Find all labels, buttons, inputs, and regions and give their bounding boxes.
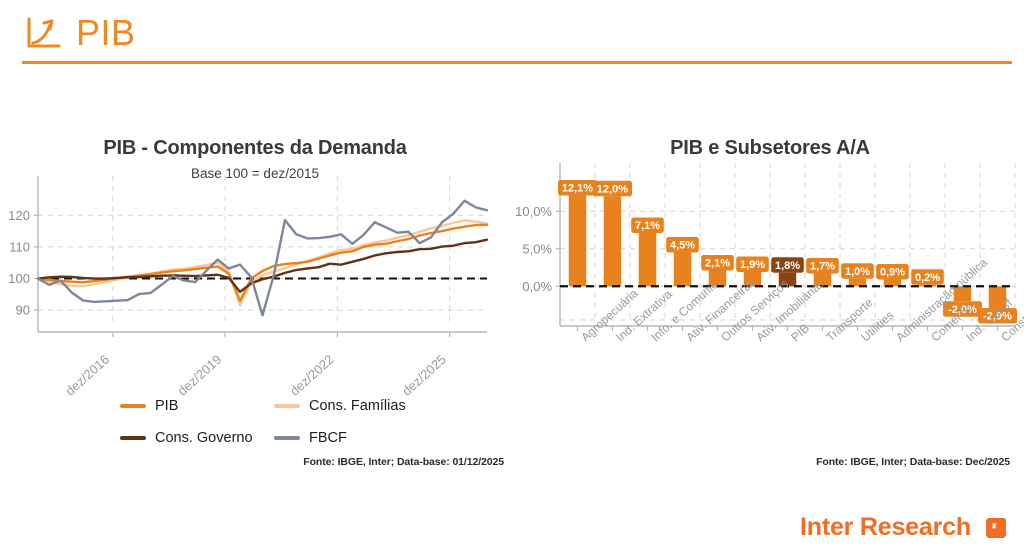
legend-swatch-fbcf xyxy=(274,436,300,440)
line-chart-pib-componentes: 90100110120dez/2016dez/2019dez/2022dez/2… xyxy=(0,130,512,400)
svg-text:PIB: PIB xyxy=(788,321,812,344)
line-chart-canvas: 90100110120dez/2016dez/2019dez/2022dez/2… xyxy=(0,130,512,400)
bar-value-label-10: 0,2% xyxy=(915,272,940,284)
axis-label-y: 90 xyxy=(16,303,30,318)
left-chart-source: Fonte: IBGE, Inter; Data-base: 01/12/202… xyxy=(20,456,504,468)
page-title: PIB xyxy=(76,11,136,55)
bar-value-label-8: 1,0% xyxy=(845,266,870,278)
legend-swatch-cons-governo xyxy=(120,436,146,440)
line-chart-legend: PIB Cons. Famílias Cons. Governo FBCF xyxy=(120,396,520,452)
axis-label-y: 100 xyxy=(8,271,30,286)
svg-text:dez/2019: dez/2019 xyxy=(175,352,225,399)
axis-label-x: dez/2025 xyxy=(399,352,449,399)
legend-item-pib[interactable]: PIB xyxy=(120,398,178,414)
bar-value-label-4: 2,1% xyxy=(705,258,730,270)
header-divider xyxy=(22,61,1012,64)
line-series-cons-governo xyxy=(38,240,487,292)
bar-value-label-2: 7,1% xyxy=(635,220,660,232)
bar-0[interactable] xyxy=(569,196,587,287)
legend-label-cons-familias: Cons. Famílias xyxy=(309,398,406,414)
bar-value-label-3: 4,5% xyxy=(670,240,695,252)
page-header: PIB xyxy=(0,0,1024,70)
svg-text:dez/2022: dez/2022 xyxy=(287,352,337,399)
bar-chart-canvas: 12,1%12,0%7,1%4,5%2,1%1,9%1,8%1,7%1,0%0,… xyxy=(512,130,1024,430)
axis-label-x: dez/2019 xyxy=(175,352,225,399)
axis-label-x: dez/2016 xyxy=(62,352,112,399)
legend-label-fbcf: FBCF xyxy=(309,430,347,446)
bar-2[interactable] xyxy=(639,233,657,286)
bar-value-label-5: 1,9% xyxy=(740,259,765,271)
axis-label-x: dez/2022 xyxy=(287,352,337,399)
bar-value-label-7: 1,7% xyxy=(810,261,835,273)
right-chart-source: Fonte: IBGE, Inter; Data-base: Dec/2025 xyxy=(520,456,1010,468)
line-series-pib xyxy=(38,225,487,301)
inter-logo-mark-icon xyxy=(983,515,1009,541)
legend-label-cons-governo: Cons. Governo xyxy=(155,430,253,446)
legend-label-pib: PIB xyxy=(155,398,178,414)
category-label-6: PIB xyxy=(788,321,812,344)
svg-text:dez/2025: dez/2025 xyxy=(399,352,449,399)
line-chart-growth-icon xyxy=(26,16,66,52)
slide-root: PIB PIB - Componentes da Demanda Base 10… xyxy=(0,0,1024,559)
bar-value-label-6: 1,8% xyxy=(775,260,800,272)
bar-3[interactable] xyxy=(674,253,692,287)
axis-label-y: 5,0% xyxy=(522,241,552,256)
legend-item-cons-familias[interactable]: Cons. Famílias xyxy=(274,398,406,414)
bar-1[interactable] xyxy=(604,196,622,286)
line-series-fbcf xyxy=(38,201,487,316)
legend-swatch-cons-familias xyxy=(274,404,300,408)
bar-value-label-1: 12,0% xyxy=(597,183,628,195)
logo-text: Inter Research xyxy=(800,513,971,542)
inter-research-logo: Inter Research xyxy=(800,513,1009,542)
axis-label-y: 10,0% xyxy=(515,204,552,219)
bar-chart-pib-subsetores: 12,1%12,0%7,1%4,5%2,1%1,9%1,8%1,7%1,0%0,… xyxy=(512,130,1024,430)
axis-label-y: 120 xyxy=(8,208,30,223)
svg-text:dez/2016: dez/2016 xyxy=(62,352,112,399)
legend-item-fbcf[interactable]: FBCF xyxy=(274,430,347,446)
bar-8[interactable] xyxy=(849,279,867,287)
bar-value-label-0: 12,1% xyxy=(562,183,593,195)
line-series-cons-fam-lias xyxy=(38,220,487,305)
legend-swatch-pib xyxy=(120,404,146,408)
legend-item-cons-governo[interactable]: Cons. Governo xyxy=(120,430,253,446)
axis-label-y: 0,0% xyxy=(522,279,552,294)
axis-label-y: 110 xyxy=(9,239,30,254)
bar-value-label-9: 0,9% xyxy=(880,267,905,279)
